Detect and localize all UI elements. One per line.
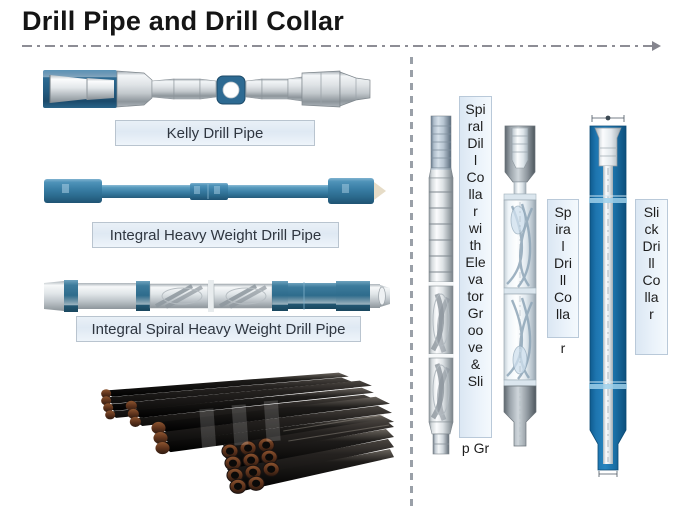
label-line: oo (460, 322, 491, 339)
label-line: Co (636, 272, 667, 289)
label-line: ll (548, 272, 578, 289)
label-line: & (460, 356, 491, 373)
label-line: r (460, 203, 491, 220)
label-line: th (460, 237, 491, 254)
label-line: lla (460, 186, 491, 203)
label-line: Co (460, 169, 491, 186)
label-line: Gr (474, 440, 490, 456)
label-line: ll (636, 255, 667, 272)
caption-text: Kelly Drill Pipe (167, 125, 264, 142)
label-line: va (460, 271, 491, 288)
spiral-drill-collar-elevator-groove-illustration (424, 112, 458, 460)
caption-integral-heavy-weight-drill-pipe: Integral Heavy Weight Drill Pipe (92, 222, 339, 248)
label-line: Dri (636, 238, 667, 255)
dashed-vertical-divider-icon (410, 57, 413, 509)
label-line: Dil (460, 135, 491, 152)
label-spiral-drill-collar-with-elevator-groove: Spi ral Dil l Co lla r wi th Ele va tor … (459, 96, 492, 438)
label-line: ral (460, 118, 491, 135)
slick-drill-collar-illustration (584, 112, 630, 478)
label-line: lla (636, 289, 667, 306)
label-line: r (561, 340, 566, 356)
label-line: Sli (460, 373, 491, 390)
label-line: l (548, 238, 578, 255)
stacked-drill-pipes-photo (82, 366, 394, 502)
caption-kelly-drill-pipe: Kelly Drill Pipe (115, 120, 315, 146)
label-overflow-spiral-drill-collar: r (547, 340, 579, 357)
label-line: tor (460, 288, 491, 305)
label-line: r (636, 306, 667, 323)
label-line: wi (460, 220, 491, 237)
label-slick-drill-collar: Sli ck Dri ll Co lla r (635, 199, 668, 355)
spiral-heavy-weight-drill-pipe-illustration (42, 272, 392, 320)
rule-arrowhead-icon (652, 41, 661, 51)
label-line: ck (636, 221, 667, 238)
dash-dot-arrow-rule-icon (22, 45, 656, 48)
label-line: Co (548, 289, 578, 306)
label-line: lla (548, 306, 578, 323)
label-spiral-drill-collar: Sp ira l Dri ll Co lla (547, 199, 579, 338)
label-line: Ele (460, 254, 491, 271)
slide-canvas: Drill Pipe and Drill Collar (0, 0, 695, 510)
label-overflow-spiral-drill-collar-with-elevator-groove: p Gr (459, 440, 492, 457)
label-line: ira (548, 221, 578, 238)
caption-integral-spiral-heavy-weight-drill-pipe: Integral Spiral Heavy Weight Drill Pipe (76, 316, 361, 342)
label-line: l (460, 152, 491, 169)
label-line: ve (460, 339, 491, 356)
label-line: Dri (548, 255, 578, 272)
label-line: Gr (460, 305, 491, 322)
label-line: p (462, 440, 470, 456)
caption-text: Integral Spiral Heavy Weight Drill Pipe (92, 321, 346, 338)
label-line: Sp (548, 204, 578, 221)
caption-text: Integral Heavy Weight Drill Pipe (110, 227, 321, 244)
label-line: Sli (636, 204, 667, 221)
page-title: Drill Pipe and Drill Collar (22, 6, 344, 37)
kelly-drill-pipe-illustration (40, 64, 375, 116)
heavy-weight-drill-pipe-illustration (42, 172, 387, 214)
spiral-drill-collar-illustration (500, 120, 540, 452)
label-line: Spi (460, 101, 491, 118)
